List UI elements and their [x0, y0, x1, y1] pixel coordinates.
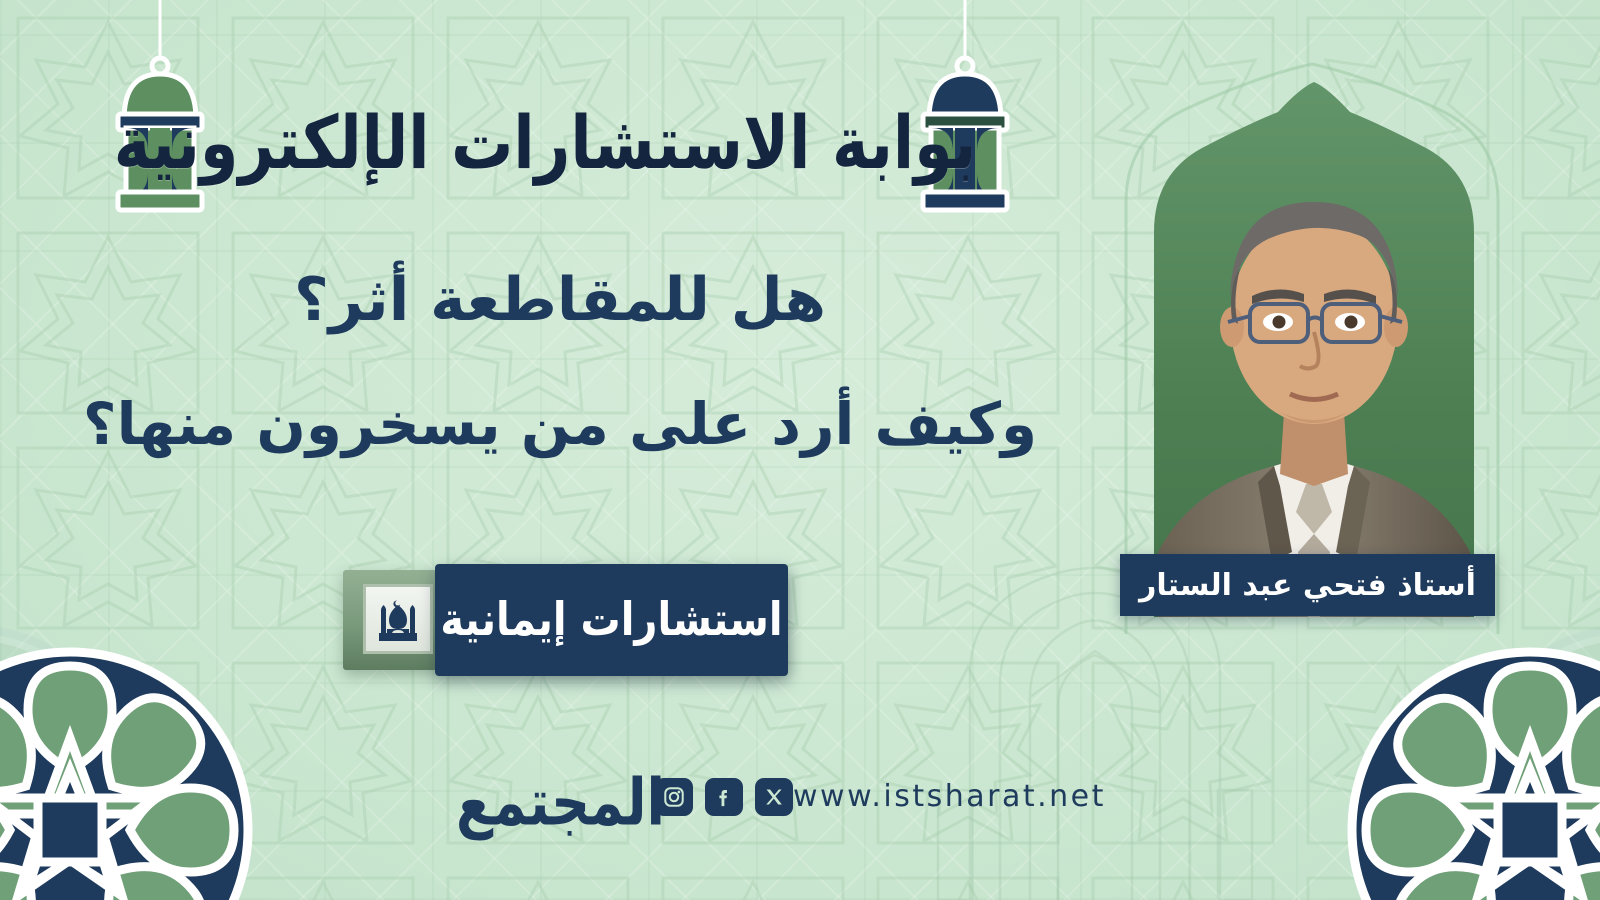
speaker-photo [1140, 82, 1488, 617]
x-glyph [764, 787, 784, 807]
instagram-icon[interactable] [655, 778, 693, 816]
social-links [655, 778, 793, 816]
website-url[interactable]: www.istsharat.net [793, 779, 1106, 814]
facebook-glyph [713, 786, 735, 808]
brand-logo-calligraphy: المجتمع [456, 764, 665, 840]
program-banner-text: استشارات إيمانية [440, 594, 782, 647]
islamic-rosette-ornament [1330, 630, 1600, 900]
program-icon-tile [363, 584, 433, 654]
speaker-name-plate: أستاذ فتحي عبد الستار [1120, 554, 1495, 616]
portal-title: بوابة الاستشارات الإلكترونية [195, 72, 895, 212]
headline-block: هل للمقاطعة أثر؟ وكيف أرد على من يسخرون … [60, 258, 1060, 466]
brand-logo: المجتمع [478, 752, 643, 852]
banner-canvas: بوابة الاستشارات الإلكترونية هل للمقاطعة… [0, 0, 1600, 900]
mosque-icon [375, 597, 421, 641]
headline-line-1: هل للمقاطعة أثر؟ [60, 258, 1060, 343]
instagram-glyph [663, 786, 685, 808]
x-twitter-icon[interactable] [755, 778, 793, 816]
islamic-rosette-ornament [0, 610, 140, 900]
islamic-rosette-ornament [0, 630, 270, 900]
facebook-icon[interactable] [705, 778, 743, 816]
speaker-name: أستاذ فتحي عبد الستار [1139, 568, 1476, 603]
islamic-rosette-ornament [1460, 610, 1600, 900]
speaker-card: أستاذ فتحي عبد الستار [1118, 62, 1506, 634]
program-banner: استشارات إيمانية [343, 562, 788, 677]
portal-title-calligraphy: بوابة الاستشارات الإلكترونية [114, 99, 977, 185]
headline-line-2: وكيف أرد على من يسخرون منها؟ [60, 383, 1060, 465]
speaker-photo-svg [1140, 82, 1488, 617]
program-banner-plate: استشارات إيمانية [435, 564, 788, 676]
